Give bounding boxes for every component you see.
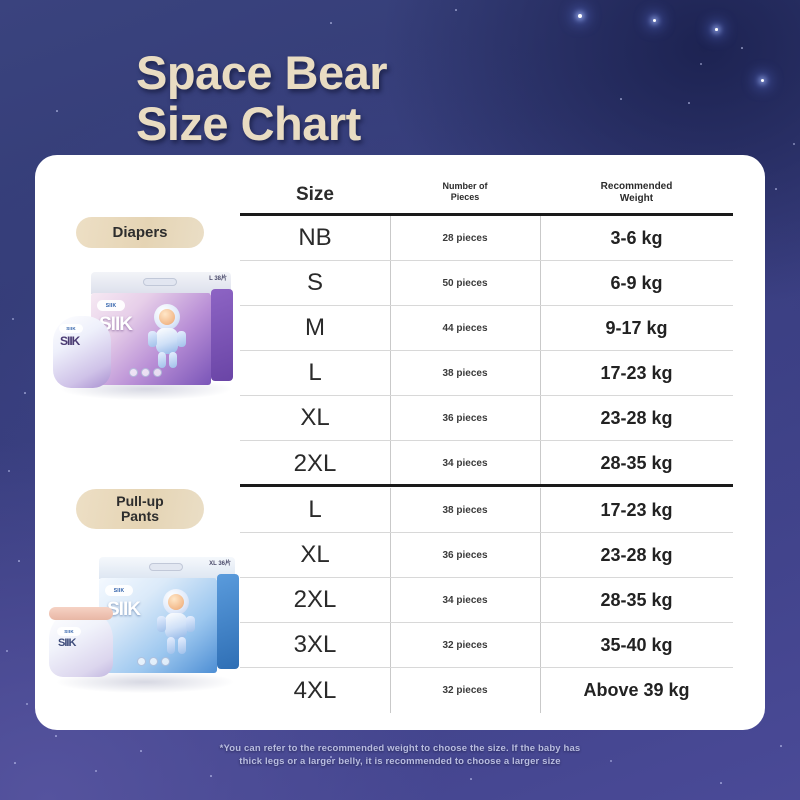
category-label-pants-line-2: Pants xyxy=(121,508,159,524)
column-header-size: Size xyxy=(240,185,390,205)
star-glow xyxy=(578,14,582,18)
table-row: 4XL32 piecesAbove 39 kg xyxy=(240,668,733,713)
table-row: 2XL34 pieces28-35 kg xyxy=(240,578,733,623)
cell-weight: 28-35 kg xyxy=(540,453,733,474)
bear-arm-right xyxy=(186,616,195,632)
star-glow xyxy=(653,19,656,22)
table-section-divider-rule xyxy=(240,484,733,487)
cell-size: 3XL xyxy=(240,631,390,659)
star-soft xyxy=(741,47,743,49)
package-side-diapers xyxy=(211,289,233,381)
package-side-pants xyxy=(217,574,239,669)
cell-pieces: 34 pieces xyxy=(390,458,540,469)
feature-badge-icon xyxy=(149,657,158,666)
star-soft xyxy=(330,22,332,24)
star-soft xyxy=(12,318,14,320)
package-brandmark-diapers: SIIK xyxy=(97,300,125,311)
star-soft xyxy=(210,775,212,777)
star-soft xyxy=(26,703,28,705)
star-soft xyxy=(18,560,20,562)
bear-leg-right xyxy=(178,637,186,654)
cell-pieces: 32 pieces xyxy=(390,685,540,696)
package-count-label-diapers: 38片 xyxy=(214,276,227,282)
package-size-tag-pants: XL 36片 xyxy=(187,561,231,568)
cell-weight: 35-40 kg xyxy=(540,635,733,656)
feature-badge-icon xyxy=(161,657,170,666)
bear-leg-right xyxy=(169,352,177,368)
star-soft xyxy=(470,778,472,780)
table-header: Size Number of Pieces Recommended Weight xyxy=(240,169,733,215)
feature-badge-icon xyxy=(129,368,138,377)
star-soft xyxy=(720,782,722,784)
star-soft xyxy=(455,9,457,11)
footnote-line-1: *You can refer to the recommended weight… xyxy=(0,742,800,755)
cell-size: L xyxy=(240,496,390,524)
category-label-diapers-text: Diapers xyxy=(112,224,167,241)
column-header-weight-line-2: Weight xyxy=(620,193,653,204)
star-soft xyxy=(6,650,8,652)
table-row: L38 pieces17-23 kg xyxy=(240,488,733,533)
cell-pieces: 36 pieces xyxy=(390,413,540,424)
category-label-pull-up-pants: Pull-up Pants xyxy=(76,489,204,529)
table-row: XL36 pieces23-28 kg xyxy=(240,533,733,578)
cell-weight: 17-23 kg xyxy=(540,363,733,384)
star-soft xyxy=(8,470,10,472)
cell-pieces: 34 pieces xyxy=(390,595,540,606)
pants-sample-wordmark: SIIK xyxy=(58,637,75,649)
star-soft xyxy=(688,102,690,104)
column-header-recommended-weight: Recommended Weight xyxy=(540,181,733,205)
package-size-tag-diapers: L 38片 xyxy=(183,276,227,283)
table-row: XL36 pieces23-28 kg xyxy=(240,396,733,441)
feature-badge-icon xyxy=(137,657,146,666)
cell-size: 4XL xyxy=(240,677,390,705)
cell-size: L xyxy=(240,359,390,387)
star-glow xyxy=(761,79,764,82)
package-count-label-pants: 36片 xyxy=(218,561,231,567)
size-table-area: Size Number of Pieces Recommended Weight… xyxy=(240,155,765,730)
feature-badge-icon xyxy=(153,368,162,377)
column-header-pieces-line-1: Number of xyxy=(443,181,488,191)
column-header-pieces-line-2: Pieces xyxy=(451,192,480,202)
pull-up-pants-table-body: L38 pieces17-23 kgXL36 pieces23-28 kg2XL… xyxy=(240,488,733,713)
package-handle-pants xyxy=(149,563,183,571)
package-handle-diapers xyxy=(143,278,177,286)
space-bear-mascot-diapers xyxy=(147,304,189,370)
cell-pieces: 36 pieces xyxy=(390,550,540,561)
page-title-line-2: Size Chart xyxy=(136,100,387,147)
category-label-diapers: Diapers xyxy=(76,217,204,248)
bear-head xyxy=(159,309,175,325)
bear-leg-left xyxy=(167,637,175,654)
diapers-table-body: NB28 pieces3-6 kgS50 pieces6-9 kgM44 pie… xyxy=(240,216,733,486)
star-soft xyxy=(55,735,57,737)
size-chart-card: Diapers L 38片 SIIK SIIK xyxy=(35,155,765,730)
package-feature-badges-diapers xyxy=(129,368,162,377)
star-soft xyxy=(793,143,795,145)
star-soft xyxy=(24,392,26,394)
cell-weight: 17-23 kg xyxy=(540,500,733,521)
table-row: 3XL32 pieces35-40 kg xyxy=(240,623,733,668)
size-chart-page: Space Bear Size Chart Diapers L 38片 xyxy=(0,0,800,800)
page-title-line-1: Space Bear xyxy=(136,49,387,96)
pants-sample-brandmark: SIIK xyxy=(57,627,81,636)
category-label-pull-up-pants-text: Pull-up Pants xyxy=(116,494,163,524)
table-row: L38 pieces17-23 kg xyxy=(240,351,733,396)
cell-size: S xyxy=(240,269,390,297)
bear-arm-left xyxy=(148,331,157,347)
cell-pieces: 32 pieces xyxy=(390,640,540,651)
footnote: *You can refer to the recommended weight… xyxy=(0,742,800,768)
cell-pieces: 44 pieces xyxy=(390,323,540,334)
product-image-diapers: L 38片 SIIK SIIK xyxy=(43,260,243,405)
cell-size: 2XL xyxy=(240,450,390,478)
bear-arm-left xyxy=(157,616,166,632)
cell-weight: Above 39 kg xyxy=(540,680,733,701)
diaper-sample-brandmark: SIIK xyxy=(59,324,83,333)
package-brandmark-pants: SIIK xyxy=(105,585,133,596)
star-soft xyxy=(95,770,97,772)
diaper-sample-wordmark: SIIK xyxy=(60,334,79,348)
star-soft xyxy=(56,110,58,112)
cell-pieces: 28 pieces xyxy=(390,233,540,244)
cell-size: XL xyxy=(240,404,390,432)
cell-pieces: 50 pieces xyxy=(390,278,540,289)
bear-leg-left xyxy=(158,352,166,368)
column-header-number-of-pieces: Number of Pieces xyxy=(390,181,540,203)
table-row: NB28 pieces3-6 kg xyxy=(240,216,733,261)
category-column: Diapers L 38片 SIIK SIIK xyxy=(35,155,240,730)
cell-weight: 9-17 kg xyxy=(540,318,733,339)
cell-weight: 23-28 kg xyxy=(540,408,733,429)
footnote-line-2: thick legs or a larger belly, it is reco… xyxy=(0,755,800,768)
page-title: Space Bear Size Chart xyxy=(136,49,387,147)
category-label-pants-line-1: Pull-up xyxy=(116,493,163,509)
cell-size: XL xyxy=(240,541,390,569)
package-size-label-diapers: L xyxy=(209,276,213,282)
package-feature-badges-pants xyxy=(137,657,170,666)
star-glow xyxy=(715,28,718,31)
cell-pieces: 38 pieces xyxy=(390,505,540,516)
bear-body xyxy=(156,328,178,354)
bear-head xyxy=(168,594,184,610)
cell-weight: 3-6 kg xyxy=(540,228,733,249)
cell-size: M xyxy=(240,314,390,342)
space-bear-mascot-pants xyxy=(155,589,199,657)
feature-badge-icon xyxy=(141,368,150,377)
star-soft xyxy=(700,63,702,65)
column-header-weight-line-1: Recommended xyxy=(601,181,673,192)
package-size-label-pants: XL xyxy=(209,561,217,567)
table-row: M44 pieces9-17 kg xyxy=(240,306,733,351)
table-row: S50 pieces6-9 kg xyxy=(240,261,733,306)
cell-size: 2XL xyxy=(240,586,390,614)
star-soft xyxy=(620,98,622,100)
cell-pieces: 38 pieces xyxy=(390,368,540,379)
pull-up-pants-waistband xyxy=(49,607,113,620)
cell-weight: 6-9 kg xyxy=(540,273,733,294)
cell-weight: 23-28 kg xyxy=(540,545,733,566)
star-soft xyxy=(775,188,777,190)
product-image-pull-up-pants: XL 36片 SIIK SIIK xyxy=(37,547,247,697)
bear-body xyxy=(165,613,187,639)
table-row: 2XL34 pieces28-35 kg xyxy=(240,441,733,486)
cell-size: NB xyxy=(240,224,390,252)
cell-weight: 28-35 kg xyxy=(540,590,733,611)
bear-arm-right xyxy=(177,331,186,347)
